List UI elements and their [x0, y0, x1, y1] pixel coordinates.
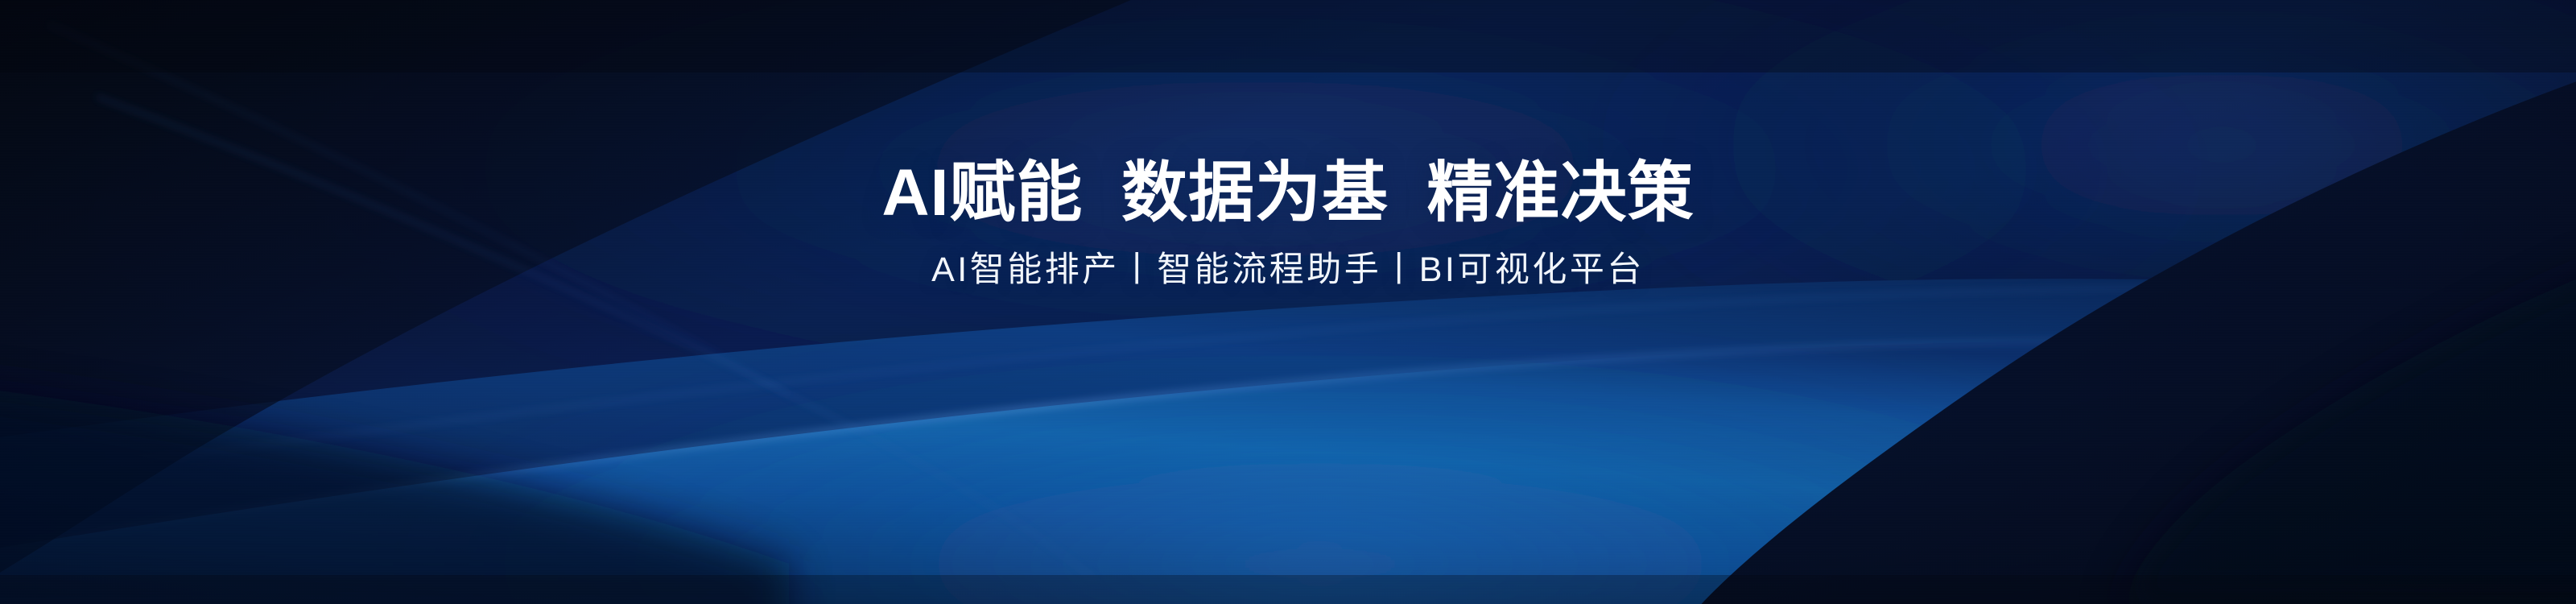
shade-bottom-left	[0, 379, 789, 604]
hero-banner: AI赋能 数据为基 精准决策 AI智能排产丨智能流程助手丨BI可视化平台	[0, 0, 2576, 604]
background-svg	[0, 0, 2576, 604]
hero-text-block: AI赋能 数据为基 精准决策 AI智能排产丨智能流程助手丨BI可视化平台	[0, 158, 2576, 292]
arc-dark-right-inner	[2117, 242, 2576, 604]
shade-bottom-edge	[0, 575, 2576, 604]
arc-edge-secondary	[0, 288, 2576, 493]
background-grain	[0, 0, 2576, 604]
banner-headline: AI赋能 数据为基 精准决策	[0, 158, 2576, 230]
arc-bright-blue	[0, 340, 2576, 604]
banner-subtitle: AI智能排产丨智能流程助手丨BI可视化平台	[0, 249, 2576, 292]
arc-dark-right	[1674, 48, 2576, 604]
arc-mid-blue	[0, 279, 2576, 604]
arc-edge-highlight	[0, 340, 2576, 564]
shade-top-edge	[0, 0, 2576, 72]
background-vignette	[0, 0, 2576, 604]
background-base	[0, 0, 2576, 604]
glow-arc-core	[370, 354, 2270, 604]
background-artwork	[0, 0, 2576, 604]
wedge-top-left	[0, 0, 1207, 604]
